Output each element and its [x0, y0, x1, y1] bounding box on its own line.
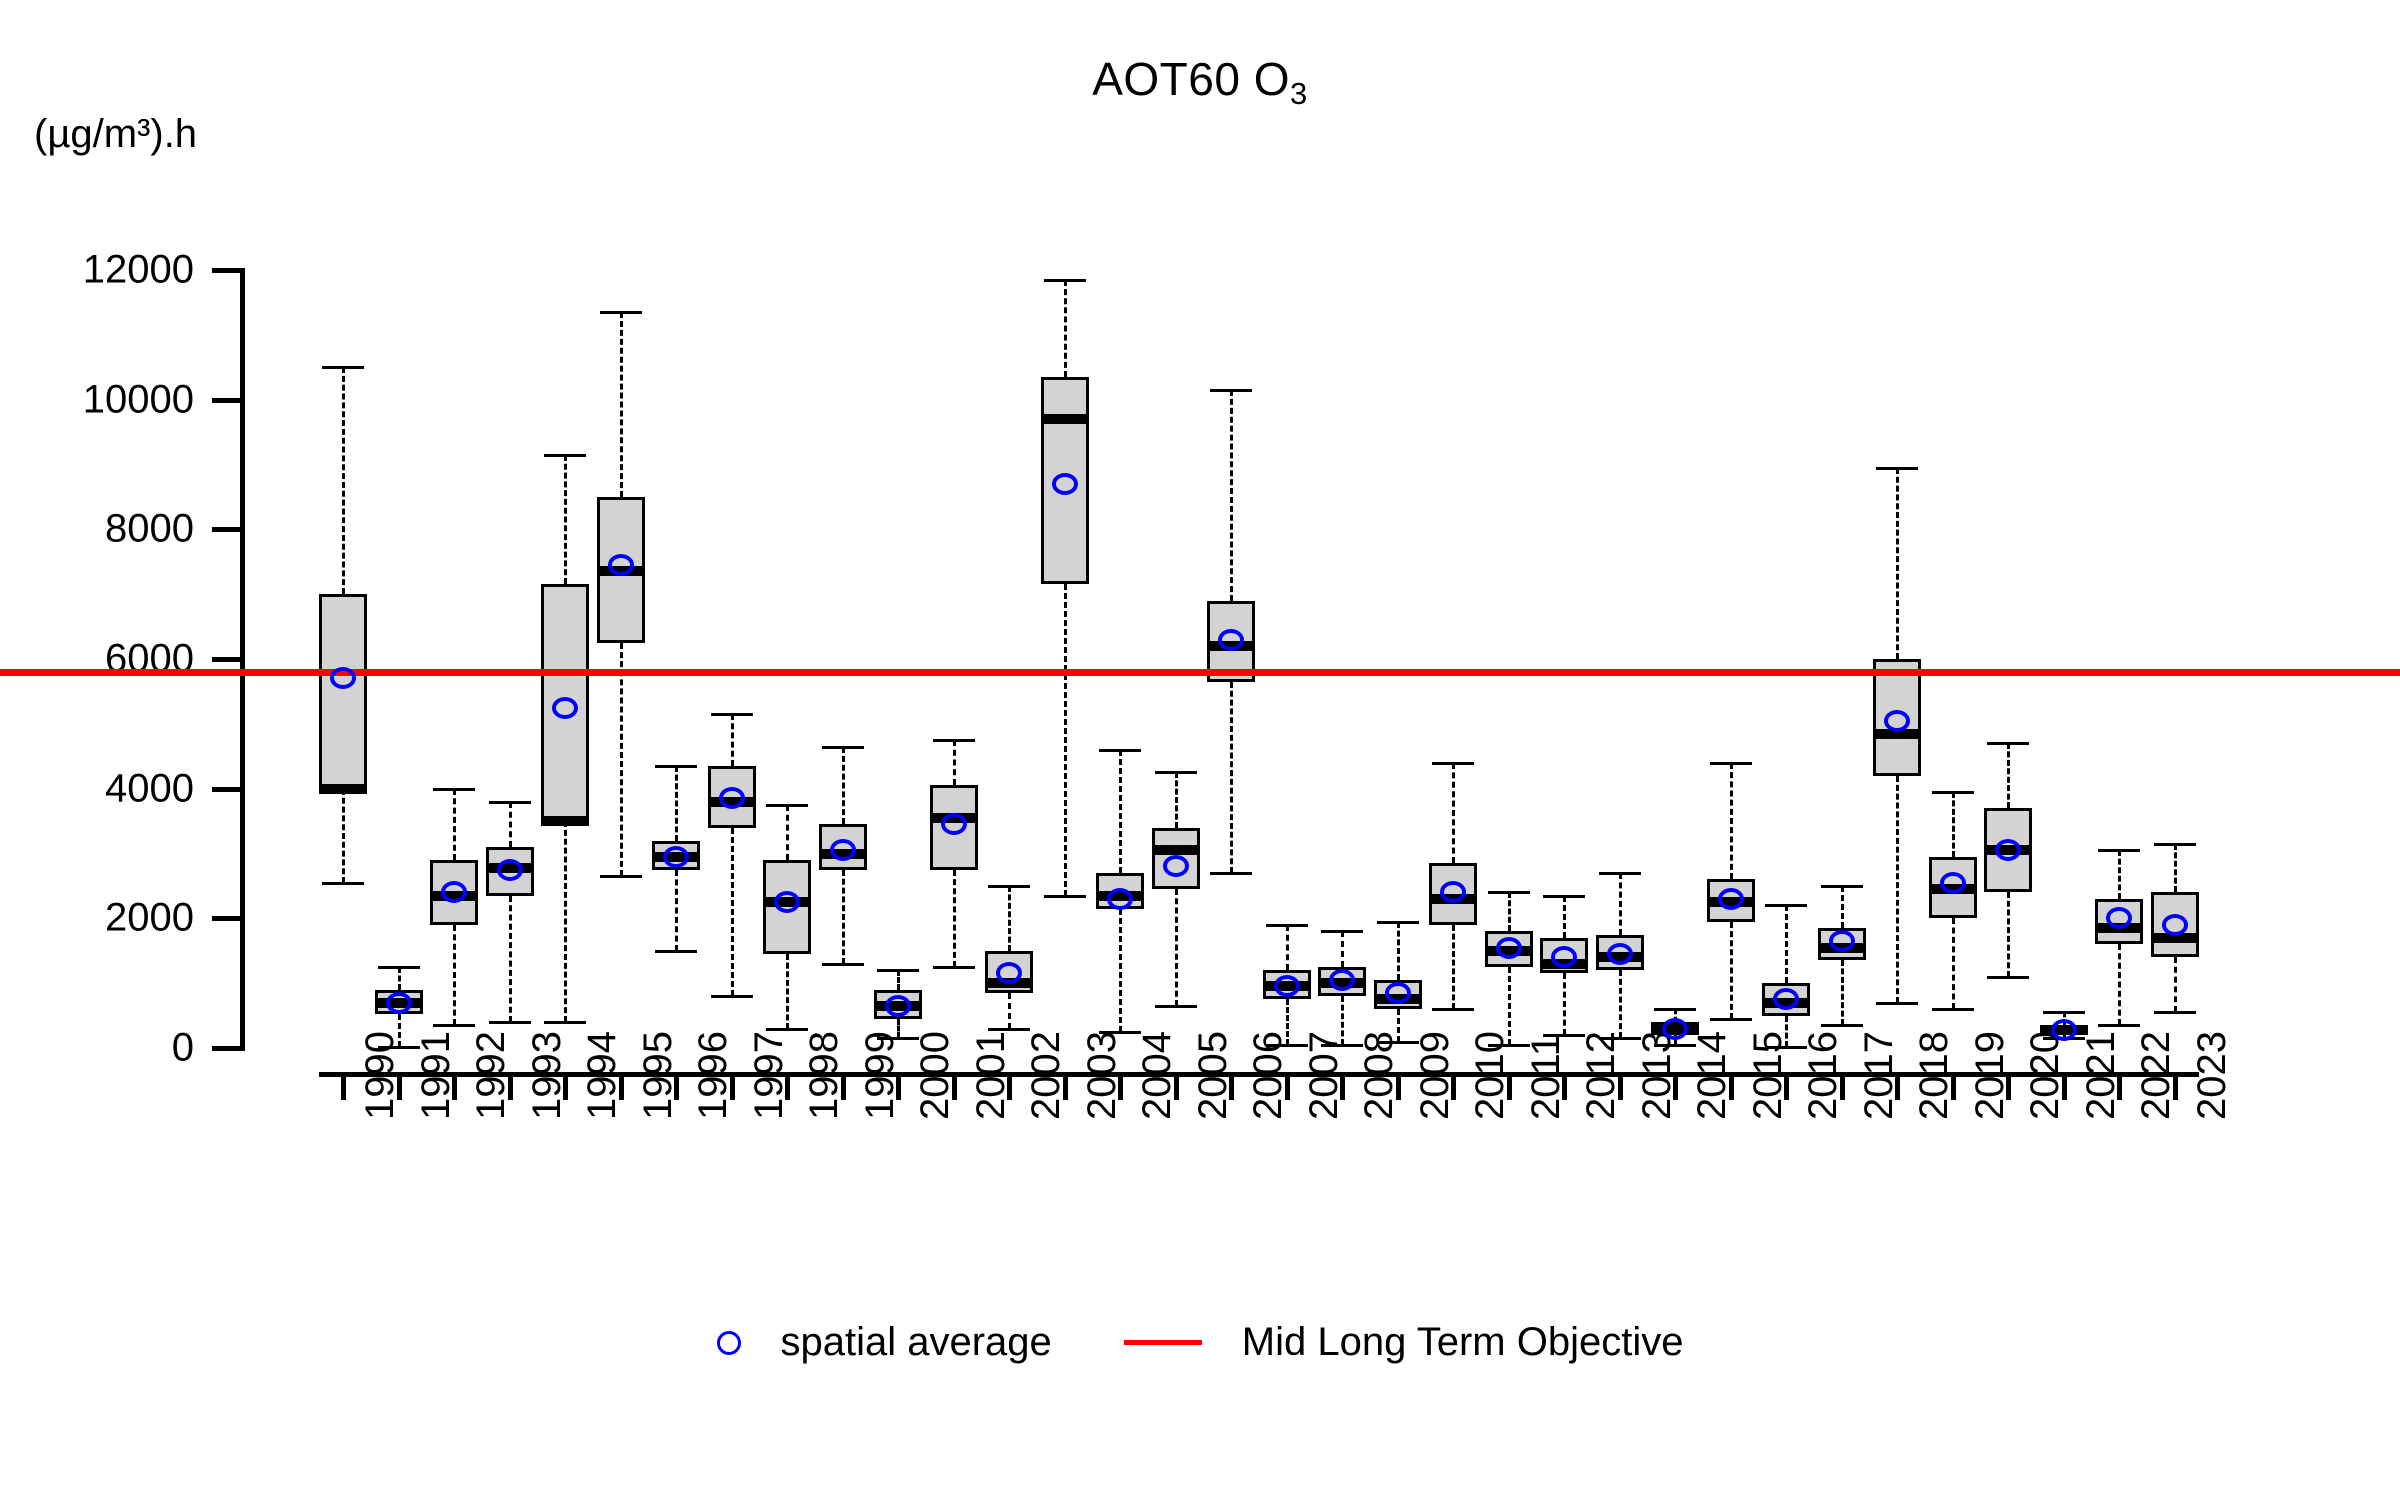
whisker-upper — [2174, 844, 2177, 893]
whisker-cap-lower — [1321, 1044, 1363, 1047]
whisker-upper — [1508, 892, 1511, 931]
x-axis-tick — [1507, 1072, 1512, 1100]
whisker-upper — [786, 805, 789, 860]
whisker-cap-upper — [322, 366, 364, 369]
whisker-cap-lower — [600, 875, 642, 878]
spatial-average-marker — [497, 859, 523, 881]
whisker-lower — [2174, 957, 2177, 1012]
whisker-cap-lower — [1099, 1031, 1141, 1034]
whisker-cap-upper — [1543, 895, 1585, 898]
whisker-lower — [1563, 973, 1566, 1035]
whisker-cap-upper — [1987, 742, 2029, 745]
whisker-cap-lower — [1987, 976, 2029, 979]
whisker-cap-upper — [766, 804, 808, 807]
spatial-average-marker — [1884, 710, 1910, 732]
whisker-upper — [453, 789, 456, 860]
whisker-lower — [1397, 1009, 1400, 1041]
spatial-average-marker — [2106, 907, 2132, 929]
whisker-upper — [398, 967, 401, 990]
whisker-cap-upper — [2098, 849, 2140, 852]
whisker-cap-lower — [1155, 1005, 1197, 1008]
whisker-cap-lower — [1654, 1044, 1696, 1047]
whisker-cap-lower — [1710, 1018, 1752, 1021]
x-axis-tick — [1451, 1072, 1456, 1100]
box-plot-median — [319, 784, 367, 794]
whisker-cap-lower — [1210, 872, 1252, 875]
whisker-upper — [675, 766, 678, 841]
whisker-cap-upper — [1654, 1008, 1696, 1011]
whisker-upper — [1286, 925, 1289, 970]
whisker-cap-upper — [1432, 762, 1474, 765]
spatial-average-marker — [774, 891, 800, 913]
threshold-line — [0, 669, 2400, 676]
x-axis-tick — [785, 1072, 790, 1100]
whisker-cap-upper — [1266, 924, 1308, 927]
x-axis-tick — [1007, 1072, 1012, 1100]
y-axis-tick — [212, 527, 240, 532]
whisker-lower — [953, 870, 956, 967]
whisker-cap-lower — [877, 1037, 919, 1040]
whisker-cap-lower — [544, 1021, 586, 1024]
spatial-average-marker — [1551, 946, 1577, 968]
y-axis-tick-label: 2000 — [0, 896, 194, 941]
whisker-cap-lower — [1765, 1046, 1807, 1049]
x-axis-tick — [2062, 1072, 2067, 1100]
box-plot-median — [1152, 845, 1200, 855]
whisker-lower — [1452, 925, 1455, 1009]
whisker-cap-upper — [1155, 771, 1197, 774]
whisker-lower — [786, 954, 789, 1029]
y-axis-tick — [212, 398, 240, 403]
whisker-upper — [1563, 896, 1566, 938]
legend-threshold-label: Mid Long Term Objective — [1242, 1320, 1684, 1365]
spatial-average-marker — [885, 995, 911, 1017]
spatial-average-marker — [1662, 1018, 1688, 1040]
whisker-cap-lower — [1543, 1034, 1585, 1037]
legend-mean-label: spatial average — [781, 1320, 1052, 1365]
whisker-upper — [731, 714, 734, 766]
spatial-average-marker — [1773, 988, 1799, 1010]
whisker-cap-upper — [1599, 872, 1641, 875]
y-axis-tick — [212, 787, 240, 792]
whisker-lower — [1064, 584, 1067, 895]
box-plot-median — [541, 816, 589, 826]
x-axis-tick — [2173, 1072, 2178, 1100]
spatial-average-marker — [663, 846, 689, 868]
x-axis-tick — [674, 1072, 679, 1100]
whisker-cap-lower — [988, 1028, 1030, 1031]
whisker-lower — [897, 1019, 900, 1038]
box-plot-box — [319, 594, 367, 789]
whisker-cap-upper — [1321, 930, 1363, 933]
whisker-cap-upper — [1710, 762, 1752, 765]
whisker-upper — [2007, 743, 2010, 808]
x-axis-tick — [952, 1072, 957, 1100]
spatial-average-marker — [1107, 888, 1133, 910]
whisker-cap-upper — [711, 713, 753, 716]
x-axis-tick — [563, 1072, 568, 1100]
legend-threshold-line-icon — [1124, 1340, 1202, 1345]
x-axis-tick — [2117, 1072, 2122, 1100]
spatial-average-marker — [830, 839, 856, 861]
whisker-lower — [1952, 918, 1955, 1009]
whisker-lower — [1619, 970, 1622, 1038]
spatial-average-marker — [1718, 888, 1744, 910]
whisker-cap-upper — [1210, 389, 1252, 392]
x-axis-tick — [619, 1072, 624, 1100]
x-axis-tick — [1618, 1072, 1623, 1100]
x-axis-tick — [841, 1072, 846, 1100]
y-axis-tick — [212, 1046, 240, 1051]
whisker-upper — [620, 312, 623, 497]
whisker-cap-lower — [822, 963, 864, 966]
whisker-cap-upper — [1765, 904, 1807, 907]
whisker-lower — [1896, 776, 1899, 1003]
x-axis-tick — [896, 1072, 901, 1100]
spatial-average-marker — [941, 813, 967, 835]
spatial-average-marker — [1163, 855, 1189, 877]
spatial-average-marker — [330, 667, 356, 689]
whisker-cap-upper — [1488, 891, 1530, 894]
whisker-cap-upper — [378, 966, 420, 969]
whisker-cap-upper — [1876, 467, 1918, 470]
y-axis-tick — [212, 268, 240, 273]
whisker-cap-lower — [1932, 1008, 1974, 1011]
whisker-lower — [620, 643, 623, 876]
whisker-lower — [1286, 999, 1289, 1044]
whisker-lower — [342, 789, 345, 883]
x-axis-tick — [1729, 1072, 1734, 1100]
whisker-upper — [1841, 886, 1844, 928]
whisker-upper — [2118, 850, 2121, 899]
whisker-lower — [1841, 960, 1844, 1025]
whisker-cap-lower — [933, 966, 975, 969]
spatial-average-marker — [1496, 937, 1522, 959]
whisker-lower — [675, 870, 678, 951]
x-axis-tick — [1562, 1072, 1567, 1100]
whisker-upper — [1452, 763, 1455, 863]
spatial-average-marker — [996, 962, 1022, 984]
chart-legend: spatial average Mid Long Term Objective — [0, 1320, 2400, 1365]
whisker-lower — [509, 896, 512, 1022]
y-axis-tick-label: 12000 — [0, 248, 194, 293]
y-axis-line — [240, 268, 245, 1051]
whisker-cap-upper — [600, 311, 642, 314]
x-axis-tick — [1174, 1072, 1179, 1100]
whisker-upper — [1896, 468, 1899, 659]
whisker-upper — [1341, 931, 1344, 967]
spatial-average-marker — [552, 697, 578, 719]
y-axis-tick-label: 10000 — [0, 377, 194, 422]
whisker-cap-upper — [2043, 1011, 2085, 1014]
whisker-cap-upper — [1099, 749, 1141, 752]
whisker-cap-lower — [433, 1024, 475, 1027]
whisker-cap-upper — [988, 885, 1030, 888]
whisker-cap-lower — [711, 995, 753, 998]
whisker-cap-upper — [1821, 885, 1863, 888]
x-axis-tick — [730, 1072, 735, 1100]
spatial-average-marker — [1385, 982, 1411, 1004]
whisker-upper — [1730, 763, 1733, 880]
whisker-cap-upper — [1044, 279, 1086, 282]
spatial-average-marker — [1829, 930, 1855, 952]
whisker-cap-upper — [544, 454, 586, 457]
x-axis-tick — [397, 1072, 402, 1100]
whisker-cap-upper — [1932, 791, 1974, 794]
spatial-average-marker — [719, 787, 745, 809]
whisker-lower — [1175, 889, 1178, 1006]
whisker-lower — [731, 828, 734, 997]
whisker-cap-upper — [433, 788, 475, 791]
whisker-cap-lower — [2154, 1011, 2196, 1014]
whisker-lower — [398, 1014, 401, 1046]
whisker-lower — [564, 821, 567, 1022]
whisker-cap-lower — [1488, 1044, 1530, 1047]
whisker-cap-upper — [489, 801, 531, 804]
whisker-cap-lower — [2098, 1024, 2140, 1027]
x-axis-tick — [508, 1072, 513, 1100]
whisker-upper — [1230, 390, 1233, 601]
whisker-upper — [1952, 792, 1955, 857]
whisker-cap-lower — [1377, 1041, 1419, 1044]
legend-mean-marker-icon — [717, 1331, 741, 1355]
whisker-cap-upper — [877, 969, 919, 972]
whisker-cap-lower — [489, 1021, 531, 1024]
x-axis-tick — [452, 1072, 457, 1100]
whisker-lower — [453, 925, 456, 1025]
spatial-average-marker — [1940, 872, 1966, 894]
whisker-cap-lower — [322, 882, 364, 885]
whisker-cap-upper — [2154, 843, 2196, 846]
whisker-upper — [953, 740, 956, 785]
whisker-lower — [1730, 922, 1733, 1019]
whisker-upper — [1175, 772, 1178, 827]
whisker-upper — [509, 802, 512, 847]
whisker-lower — [1508, 967, 1511, 1045]
whisker-cap-lower — [766, 1028, 808, 1031]
whisker-cap-upper — [1377, 921, 1419, 924]
spatial-average-marker — [1218, 629, 1244, 651]
whisker-upper — [1397, 922, 1400, 980]
spatial-average-marker — [608, 554, 634, 576]
whisker-lower — [1230, 682, 1233, 873]
whisker-lower — [1785, 1016, 1788, 1047]
whisker-cap-lower — [1044, 895, 1086, 898]
whisker-lower — [1008, 993, 1011, 1029]
spatial-average-marker — [2051, 1019, 2077, 1041]
whisker-cap-lower — [655, 950, 697, 953]
whisker-cap-lower — [378, 1046, 420, 1049]
spatial-average-marker — [1329, 969, 1355, 991]
spatial-average-marker — [1440, 881, 1466, 903]
x-axis-tick-label: 2023 — [2190, 1031, 2235, 1120]
x-axis-tick — [1673, 1072, 1678, 1100]
whisker-upper — [1064, 280, 1067, 377]
x-axis-tick — [1951, 1072, 1956, 1100]
y-axis-tick-label: 0 — [0, 1026, 194, 1071]
whisker-upper — [342, 367, 345, 594]
whisker-lower — [2118, 944, 2121, 1025]
x-axis-tick — [1840, 1072, 1845, 1100]
x-axis-tick — [2006, 1072, 2011, 1100]
whisker-cap-lower — [1266, 1044, 1308, 1047]
box-plot-median — [1041, 414, 1089, 424]
y-axis-tick-label: 8000 — [0, 507, 194, 552]
whisker-upper — [1119, 750, 1122, 873]
x-axis-tick — [1340, 1072, 1345, 1100]
whisker-cap-upper — [655, 765, 697, 768]
whisker-cap-upper — [933, 739, 975, 742]
whisker-cap-lower — [1876, 1002, 1918, 1005]
whisker-cap-upper — [822, 746, 864, 749]
spatial-average-marker — [386, 992, 412, 1014]
whisker-lower — [1341, 996, 1344, 1045]
spatial-average-marker — [1607, 943, 1633, 965]
whisker-upper — [842, 747, 845, 825]
x-axis-tick — [1229, 1072, 1234, 1100]
whisker-cap-lower — [1821, 1024, 1863, 1027]
whisker-upper — [1785, 905, 1788, 983]
x-axis-tick — [1063, 1072, 1068, 1100]
spatial-average-marker — [1052, 473, 1078, 495]
plot-area: 0200040006000800010000120001990199119921… — [0, 0, 2400, 1500]
whisker-cap-lower — [1432, 1008, 1474, 1011]
whisker-lower — [1119, 909, 1122, 1032]
spatial-average-marker — [1274, 975, 1300, 997]
whisker-upper — [1619, 873, 1622, 935]
whisker-upper — [564, 455, 567, 585]
x-axis-tick — [341, 1072, 346, 1100]
x-axis-tick — [1895, 1072, 1900, 1100]
whisker-cap-lower — [1599, 1037, 1641, 1040]
x-axis-tick — [1118, 1072, 1123, 1100]
whisker-lower — [842, 870, 845, 964]
whisker-upper — [897, 970, 900, 989]
whisker-upper — [1008, 886, 1011, 951]
spatial-average-marker — [2162, 914, 2188, 936]
y-axis-tick — [212, 657, 240, 662]
y-axis-tick-label: 4000 — [0, 766, 194, 811]
y-axis-tick — [212, 916, 240, 921]
whisker-lower — [2007, 892, 2010, 976]
x-axis-tick — [1784, 1072, 1789, 1100]
spatial-average-marker — [1995, 839, 2021, 861]
x-axis-tick — [1396, 1072, 1401, 1100]
x-axis-tick — [1285, 1072, 1290, 1100]
spatial-average-marker — [441, 881, 467, 903]
